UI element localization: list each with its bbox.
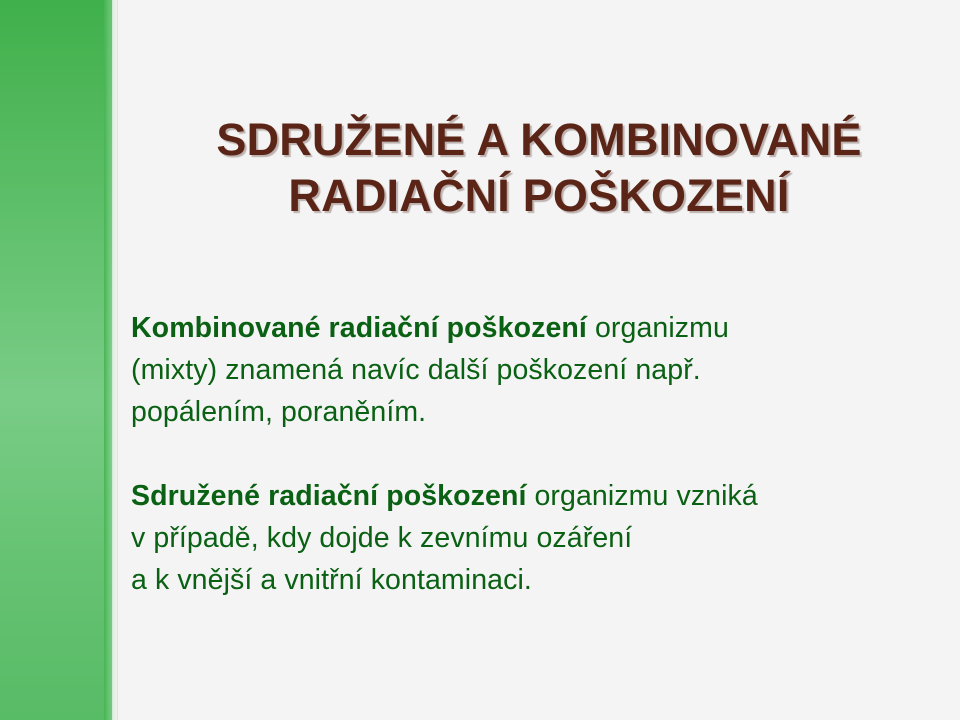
slide-title: SDRUŽENÉ A KOMBINOVANÉ RADIAČNÍ POŠKOZEN… [118,112,960,224]
presentation-slide: SDRUŽENÉ A KOMBINOVANÉ RADIAČNÍ POŠKOZEN… [0,0,960,720]
paragraph-line-text: organizmu [587,312,729,344]
left-green-accent-band [0,0,112,720]
paragraph-line: popálením, poraněním. [131,391,959,433]
paragraph-kombinovane: Kombinované radiační poškození organizmu… [131,307,959,433]
paragraph-line-text: organizmu vzniká [526,480,757,512]
paragraph-line: a k vnější a vnitřní kontaminaci. [131,559,959,601]
slide-content-area: SDRUŽENÉ A KOMBINOVANÉ RADIAČNÍ POŠKOZEN… [118,0,960,720]
paragraph-lead-term: Sdružené radiační poškození [131,480,526,512]
paragraph-lead-term: Kombinované radiační poškození [131,312,587,344]
paragraph-line: Kombinované radiační poškození organizmu [131,307,959,349]
left-band-soft-edge [104,0,118,720]
paragraph-line: Sdružené radiační poškození organizmu vz… [131,475,959,517]
slide-body: Kombinované radiační poškození organizmu… [131,307,959,601]
paragraph-sdruzene: Sdružené radiační poškození organizmu vz… [131,475,959,601]
paragraph-line: v případě, kdy dojde k zevnímu ozáření [131,517,959,559]
paragraph-line: (mixty) znamená navíc další poškození na… [131,349,959,391]
